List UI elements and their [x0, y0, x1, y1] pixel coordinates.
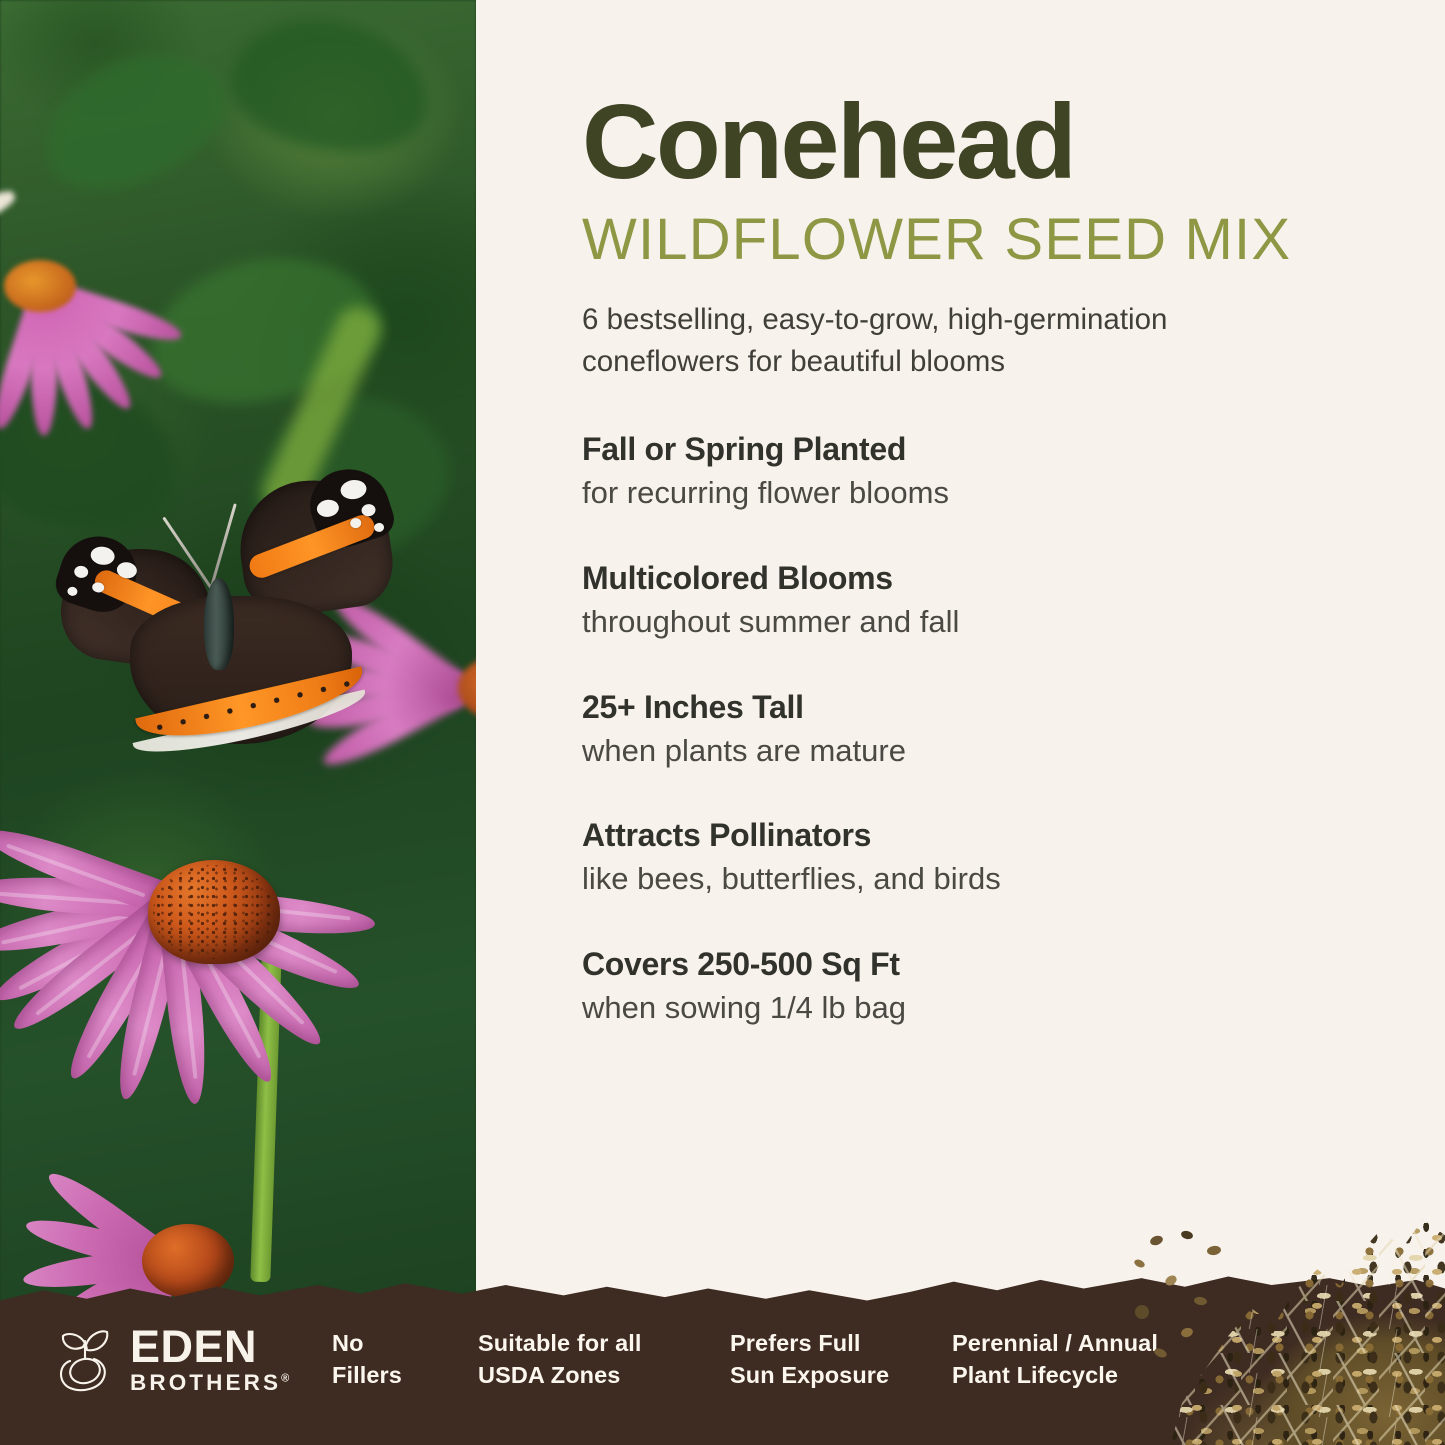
brand-logo: EDEN BROTHERS®: [54, 1324, 332, 1395]
content-panel: Conehead WILDFLOWER SEED MIX 6 bestselli…: [476, 0, 1445, 1445]
badge-no-fillers: No Fillers: [332, 1327, 478, 1392]
feature-title: Multicolored Blooms: [582, 558, 1445, 598]
feature-item: Multicolored Blooms throughout summer an…: [582, 558, 1445, 643]
feature-item: Attracts Pollinators like bees, butterfl…: [582, 815, 1445, 900]
brand-wordmark: EDEN BROTHERS®: [130, 1324, 289, 1395]
product-photo: [0, 0, 476, 1445]
feature-item: Fall or Spring Planted for recurring flo…: [582, 429, 1445, 514]
feature-subtitle: when plants are mature: [582, 731, 1445, 772]
feature-title: Fall or Spring Planted: [582, 429, 1445, 469]
butterfly-body: [204, 578, 234, 670]
stray-seed: [1135, 1305, 1149, 1319]
feature-item: 25+ Inches Tall when plants are mature: [582, 687, 1445, 772]
badge-line-2: USDA Zones: [478, 1359, 730, 1391]
eden-brothers-seed-icon: [54, 1325, 116, 1393]
flower-cone: [148, 860, 280, 964]
red-admiral-butterfly: [52, 470, 412, 760]
badge-usda-zones: Suitable for all USDA Zones: [478, 1327, 730, 1392]
badge-line-2: Fillers: [332, 1359, 478, 1391]
brand-name-bottom-text: BROTHERS: [130, 1370, 281, 1395]
brand-name-top: EDEN: [130, 1324, 289, 1369]
feature-list: Fall or Spring Planted for recurring flo…: [582, 429, 1445, 1030]
butterfly-antenna: [210, 503, 237, 586]
badge-line-1: Suitable for all: [478, 1327, 730, 1359]
product-feature-card: Conehead WILDFLOWER SEED MIX 6 bestselli…: [0, 0, 1445, 1445]
feature-title: 25+ Inches Tall: [582, 687, 1445, 727]
main-coneflower: [0, 690, 476, 1160]
flower-cone: [4, 260, 76, 312]
product-description: 6 bestselling, easy-to-grow, high-germin…: [582, 299, 1312, 383]
badge-line-2: Plant Lifecycle: [952, 1359, 1252, 1391]
badge-line-1: Prefers Full: [730, 1327, 952, 1359]
flower-petal: [0, 185, 19, 257]
footer-badges: No Fillers Suitable for all USDA Zones P…: [332, 1327, 1445, 1392]
feature-subtitle: throughout summer and fall: [582, 602, 1445, 643]
background-coneflower: [0, 150, 220, 440]
feature-title: Covers 250-500 Sq Ft: [582, 944, 1445, 984]
page-title: Conehead: [582, 88, 1445, 196]
feature-subtitle: when sowing 1/4 lb bag: [582, 988, 1445, 1029]
badge-plant-lifecycle: Perennial / Annual Plant Lifecycle: [952, 1327, 1252, 1392]
footer-bar: EDEN BROTHERS® No Fillers Suitable for a…: [0, 1273, 1445, 1445]
badge-line-1: No: [332, 1327, 478, 1359]
badge-sun-exposure: Prefers Full Sun Exposure: [730, 1327, 952, 1392]
feature-title: Attracts Pollinators: [582, 815, 1445, 855]
badge-line-2: Sun Exposure: [730, 1359, 952, 1391]
brand-name-bottom: BROTHERS®: [130, 1372, 289, 1395]
feature-item: Covers 250-500 Sq Ft when sowing 1/4 lb …: [582, 944, 1445, 1029]
feature-subtitle: for recurring flower blooms: [582, 473, 1445, 514]
feature-subtitle: like bees, butterflies, and birds: [582, 859, 1445, 900]
badge-line-1: Perennial / Annual: [952, 1327, 1252, 1359]
trademark-symbol: ®: [281, 1372, 289, 1384]
product-subtitle: WILDFLOWER SEED MIX: [582, 210, 1445, 271]
